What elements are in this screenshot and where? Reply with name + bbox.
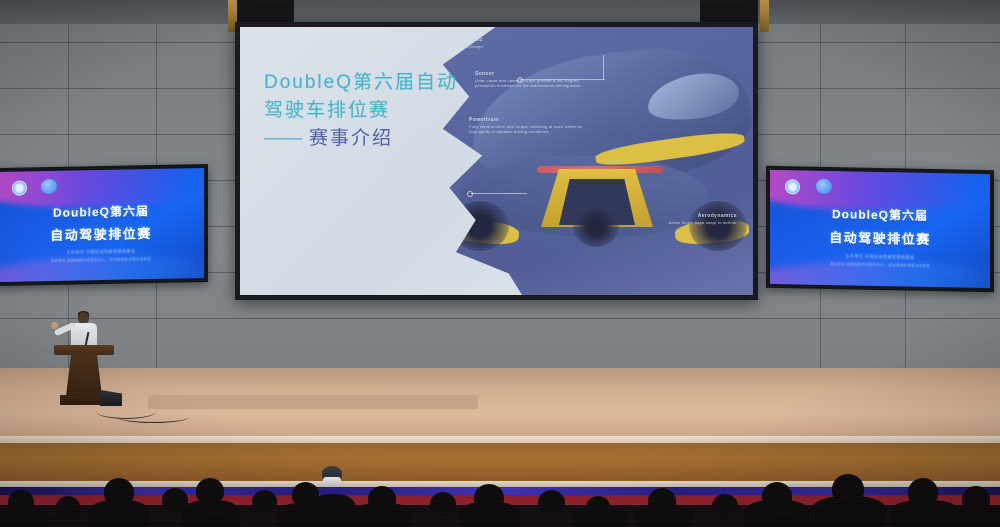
audience-shoulders (744, 500, 810, 527)
wood-trim-right (760, 0, 769, 32)
side-screen-left[interactable]: DoubleQ第六届 自动驾驶排位赛 主办单位 中国自动驾驶竞赛组委会 承办单位… (0, 164, 208, 286)
slide-title-line1: DoubleQ第六届自动 (264, 69, 514, 97)
audience-head (252, 490, 277, 513)
main-projection-screen[interactable]: Mercedes-Benz Vision AVTR Concept Sensor… (235, 22, 758, 300)
audience-shoulders (0, 505, 48, 527)
banner-line2: 自动驾驶排位赛 (770, 226, 990, 249)
audience-shoulders (352, 503, 412, 527)
banner-subtitle-2: 承办单位 智能网联汽车研究中心 · 自动驾驶技术联合实验室 (14, 256, 187, 265)
stage-riser (148, 395, 478, 409)
audience-head (56, 496, 80, 518)
slide-subtitle-text: 赛事介绍 (309, 128, 393, 149)
stage-cable (118, 412, 188, 423)
audience-head (538, 490, 565, 515)
photo-brand-label: Mercedes-Benz Vision AVTR Concept (441, 37, 537, 49)
photo-callout-aero: Aerodynamics Active bionic flaps adapt t… (663, 213, 737, 225)
banner-subtitle-1: 主办单位 中国自动驾驶竞赛组委会 (788, 252, 973, 262)
audience-head (430, 492, 456, 516)
audience-shoulders (948, 504, 1000, 527)
audience-shoulders (812, 496, 886, 527)
event-banner-right: DoubleQ第六届 自动驾驶排位赛 主办单位 中国自动驾驶竞赛组委会 承办单位… (770, 170, 990, 288)
ceiling-trim (0, 0, 1000, 24)
concept-car-photo: Mercedes-Benz Vision AVTR Concept Sensor… (423, 27, 753, 295)
racing-helmet-icon (322, 466, 342, 488)
banner-line1: DoubleQ第六届 (0, 201, 204, 222)
banner-subtitle-1: 主办单位 中国自动驾驶竞赛组委会 (14, 248, 187, 257)
em-dash: —— (264, 128, 302, 149)
audience-shoulders (182, 500, 240, 527)
presentation-slide: Mercedes-Benz Vision AVTR Concept Sensor… (240, 27, 753, 295)
slide-title-block: DoubleQ第六届自动 驾驶车排位赛 ——赛事介绍 (264, 69, 514, 153)
audience-shoulders (88, 500, 150, 527)
audience-shoulders (634, 504, 694, 527)
banner-line2: 自动驾驶排位赛 (0, 222, 204, 245)
side-screen-right[interactable]: DoubleQ第六届 自动驾驶排位赛 主办单位 中国自动驾驶竞赛组委会 承办单位… (766, 166, 994, 292)
banner-subtitle-2: 承办单位 智能网联汽车研究中心 · 自动驾驶技术联合实验室 (788, 261, 973, 270)
circular-emblem-icon (12, 180, 27, 195)
blue-sphere-icon (816, 179, 832, 194)
audience-shoulders (310, 494, 356, 527)
auditorium-scene: Mercedes-Benz Vision AVTR Concept Sensor… (0, 0, 1000, 527)
audience-shoulders (572, 506, 628, 527)
circular-emblem-icon (785, 179, 800, 194)
slide-title-line2: 驾驶车排位赛 (264, 97, 514, 125)
blue-sphere-icon (41, 179, 57, 194)
banner-line1: DoubleQ第六届 (770, 204, 990, 225)
audience-head (712, 494, 738, 518)
audience-shoulders (458, 502, 520, 527)
event-banner-left: DoubleQ第六届 自动驾驶排位赛 主办单位 中国自动驾驶竞赛组委会 承办单位… (0, 168, 204, 282)
slide-subtitle-line: ——赛事介绍 (264, 125, 514, 153)
